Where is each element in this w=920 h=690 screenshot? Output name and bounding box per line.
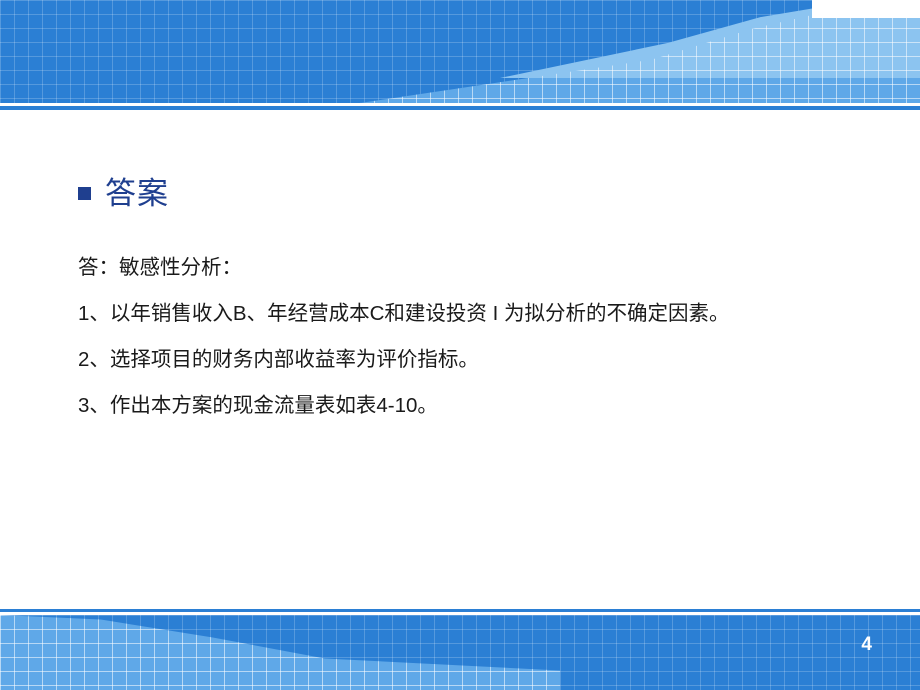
page-number: 4 — [861, 634, 872, 656]
bottom-banner — [0, 615, 920, 690]
body-line: 1、以年销售收入B、年经营成本C和建设投资 I 为拟分析的不确定因素。 — [78, 291, 878, 337]
body-line: 3、作出本方案的现金流量表如表4-10。 — [78, 383, 878, 429]
top-banner — [0, 0, 920, 103]
slide: 答案 答：敏感性分析： 1、以年销售收入B、年经营成本C和建设投资 I 为拟分析… — [0, 0, 920, 690]
square-bullet-icon — [78, 187, 91, 200]
slide-content: 答案 答：敏感性分析： 1、以年销售收入B、年经营成本C和建设投资 I 为拟分析… — [0, 110, 920, 610]
body-text-block: 答：敏感性分析： 1、以年销售收入B、年经营成本C和建设投资 I 为拟分析的不确… — [78, 245, 878, 429]
body-line: 2、选择项目的财务内部收益率为评价指标。 — [78, 337, 878, 383]
body-line: 答：敏感性分析： — [78, 245, 878, 291]
top-banner-notch — [812, 0, 920, 18]
slide-title-row: 答案 — [78, 168, 169, 213]
page-title: 答案 — [105, 168, 169, 213]
